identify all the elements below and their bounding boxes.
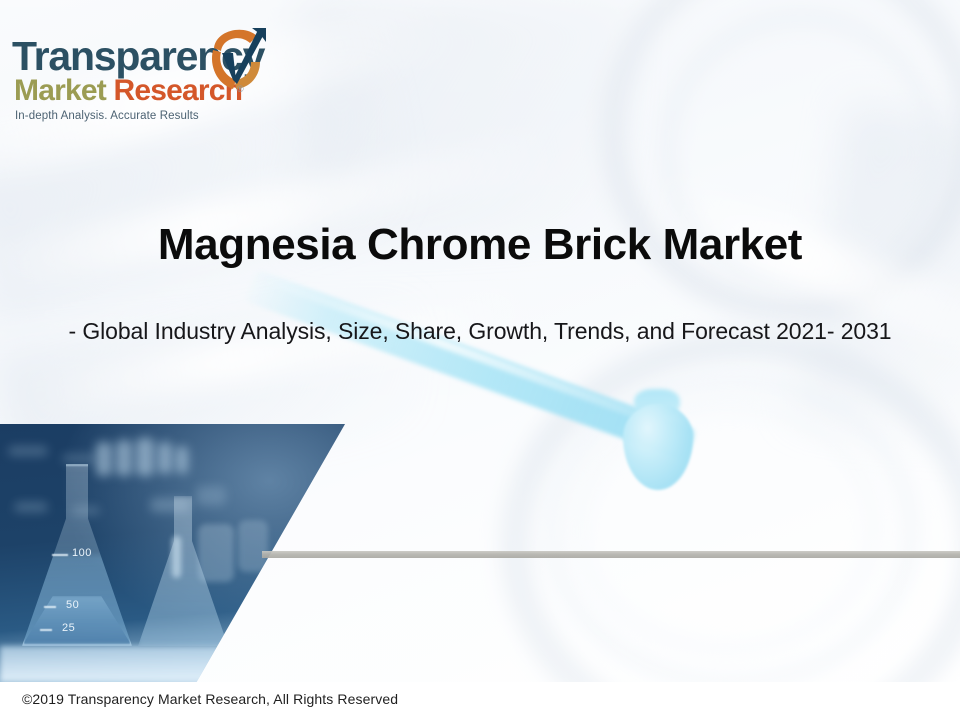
lab-equipment-blur [96, 442, 112, 476]
flask-graduation-line [52, 554, 68, 556]
horizontal-divider-line [262, 551, 960, 558]
lab-equipment-blur [8, 446, 48, 456]
flask-graduation-line [44, 606, 56, 608]
logo-market-text: Market [14, 74, 106, 107]
lab-equipment-blur [196, 486, 226, 506]
flask-mark-100: 100 [72, 547, 92, 559]
flask-highlight [172, 536, 181, 578]
lab-equipment-blur [158, 442, 172, 474]
page-subtitle: - Global Industry Analysis, Size, Share,… [0, 318, 960, 346]
logo-tagline: In-depth Analysis. Accurate Results [15, 110, 199, 122]
presentation-slide: 100 50 25 Transparency Market Research I… [0, 0, 960, 720]
lab-beaker-blur [198, 524, 234, 582]
lab-equipment-blur [176, 446, 188, 474]
lab-beaker-blur [238, 520, 268, 572]
footer-copyright: ©2019 Transparency Market Research, All … [22, 691, 398, 707]
lab-equipment-blur [62, 454, 96, 463]
registered-trademark-symbol: ® [237, 84, 244, 94]
page-title: Magnesia Chrome Brick Market [0, 222, 960, 269]
company-logo[interactable]: Transparency Market Research In-depth An… [8, 22, 278, 132]
flask-mark-25: 25 [62, 622, 75, 634]
lab-equipment-blur [136, 438, 154, 476]
checkmark-swoosh-icon [200, 22, 272, 102]
lab-equipment-blur [116, 440, 132, 476]
flask-graduation-line [40, 629, 52, 631]
lab-equipment-blur [14, 502, 48, 512]
flask-mark-50: 50 [66, 599, 79, 611]
